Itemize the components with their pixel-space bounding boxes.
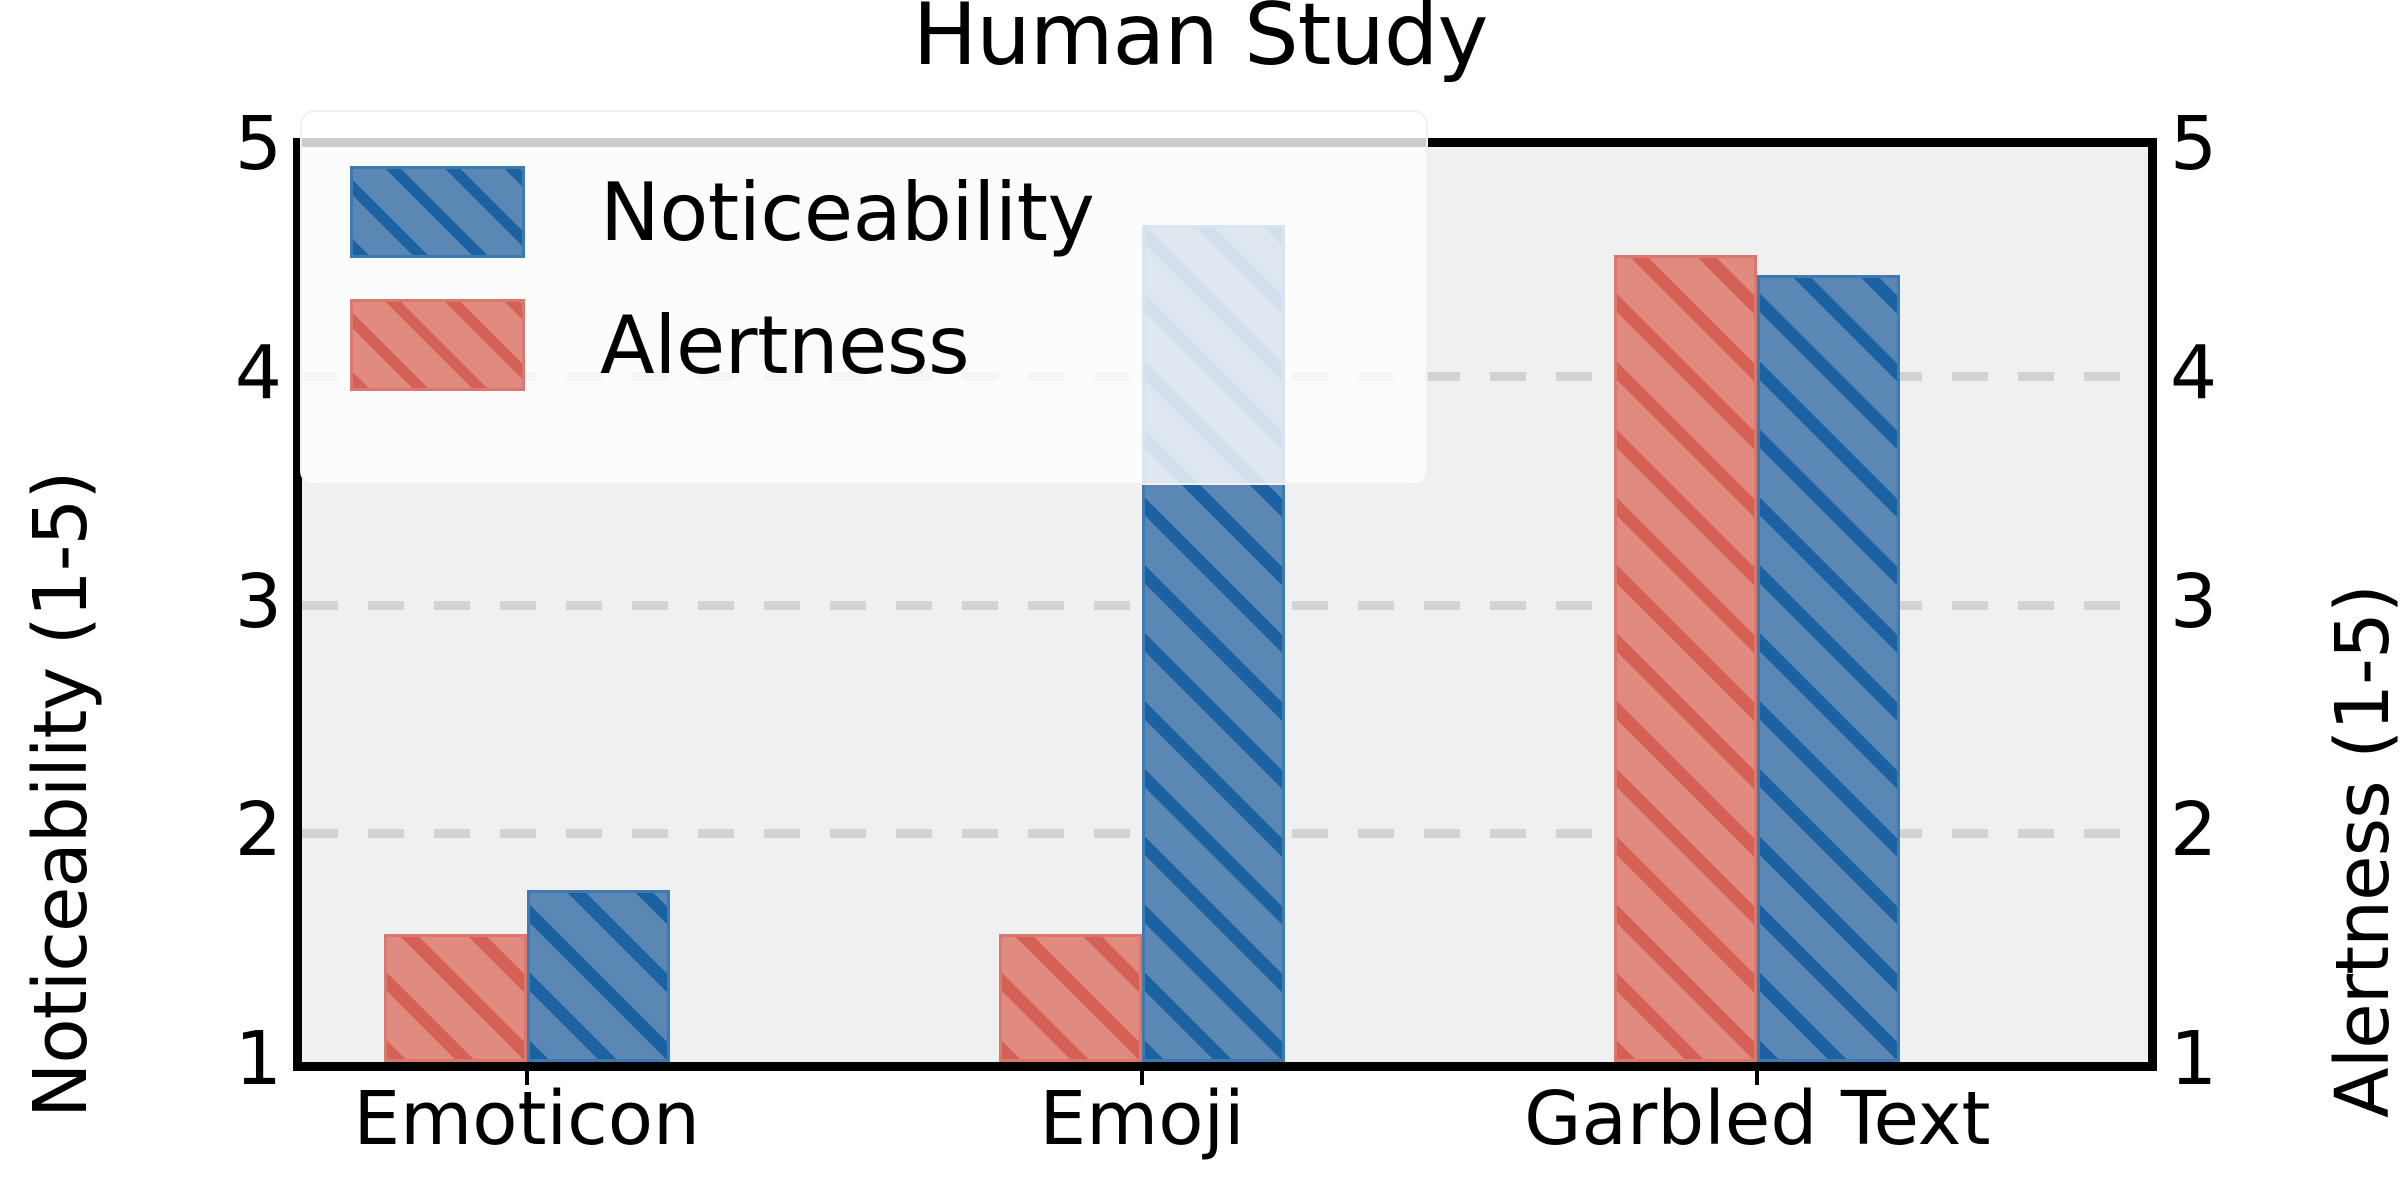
- legend-swatch-alertness-icon: [350, 299, 525, 391]
- legend-label-noticeability: Noticeability: [600, 166, 1094, 259]
- chart-legend: Noticeability Alertness: [300, 110, 1428, 485]
- bar-alertness-emoji: [999, 934, 1142, 1062]
- y-tick-label-right-1: 1: [2170, 1022, 2217, 1096]
- y-tick-label-right-3: 3: [2170, 565, 2217, 639]
- y-tick-label-left-1: 1: [235, 1022, 282, 1096]
- bar-noticeability-garbled-text: [1757, 275, 1900, 1062]
- x-tick-label-emoji: Emoji: [1039, 1082, 1244, 1156]
- y-tick-label-left-3: 3: [235, 565, 282, 639]
- y-tick-label-left-5: 5: [235, 107, 282, 181]
- y-tick-label-right-5: 5: [2170, 107, 2217, 181]
- y-tick-label-left-4: 4: [235, 336, 282, 410]
- bar-noticeability-emoticon: [527, 890, 670, 1062]
- y-tick-label-right-2: 2: [2170, 793, 2217, 867]
- legend-item-noticeability: Noticeability: [350, 157, 1094, 267]
- chart-figure: Human Study Noticeability (1-5) Alertnes…: [0, 0, 2400, 1200]
- legend-swatch-noticeability-icon: [350, 166, 525, 258]
- x-tick-label-garbled-text: Garbled Text: [1524, 1082, 1990, 1156]
- bar-alertness-emoticon: [384, 934, 527, 1062]
- chart-title: Human Study: [0, 0, 2400, 78]
- y-axis-label-left: Noticeability (1-5): [18, 472, 104, 1118]
- bar-alertness-garbled-text: [1614, 255, 1757, 1062]
- y-axis-label-right: Alertness (1-5): [2320, 585, 2400, 1118]
- y-tick-label-right-4: 4: [2170, 336, 2217, 410]
- legend-item-alertness: Alertness: [350, 290, 969, 400]
- legend-label-alertness: Alertness: [600, 299, 969, 392]
- y-tick-label-left-2: 2: [235, 793, 282, 867]
- x-tick-label-emoticon: Emoticon: [353, 1082, 700, 1156]
